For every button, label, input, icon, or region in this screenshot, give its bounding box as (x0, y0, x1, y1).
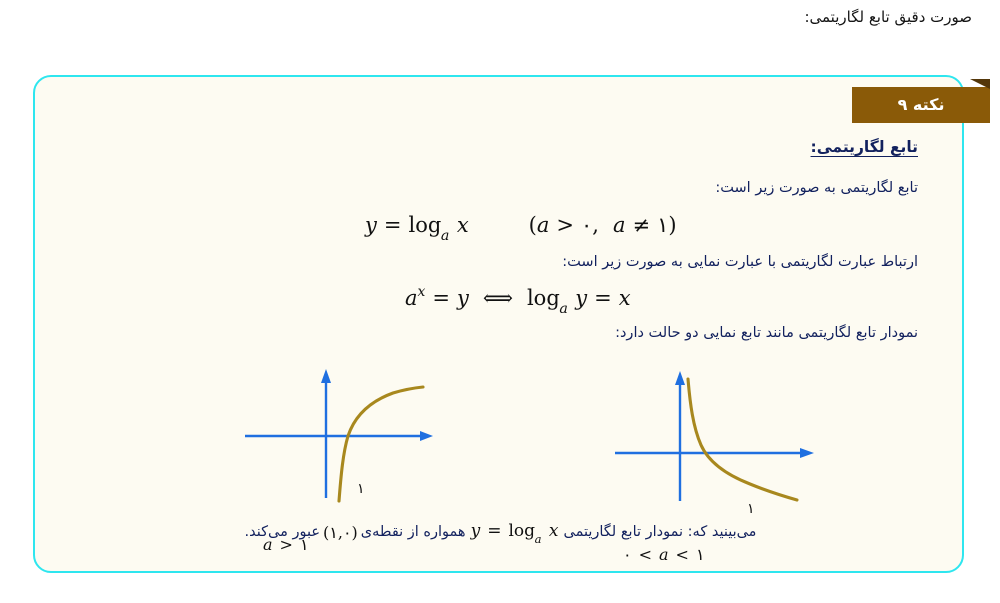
condition-a-second: a (613, 213, 626, 237)
note-ribbon-label: نکته ۹ (898, 95, 945, 114)
case-right-zero: ۰ (623, 545, 632, 564)
condition-open-paren: ( (529, 213, 537, 237)
equiv-exp-equals: = (432, 286, 450, 310)
body-line-2: ارتباط عبارت لگاریتمی با عبارت نمایی به … (562, 254, 918, 270)
body-line-3: نمودار تابع لگاریتمی مانند تابع نمایی دو… (615, 325, 918, 341)
condition-comma: , (592, 213, 599, 237)
condition-close-paren: ) (668, 213, 676, 237)
x-axis-arrow-icon (420, 431, 433, 441)
condition-a-first: a (537, 213, 550, 237)
case-right-one: ۱ (696, 545, 705, 564)
point-zero: ۰ (343, 523, 352, 542)
note-box: تابع لگاریتمی: تابع لگاریتمی به صورت زیر… (33, 75, 964, 573)
x-axis-arrow-icon (800, 448, 814, 458)
formula-definition: y=logax(a>۰,a≠۱) (365, 213, 677, 241)
case-label-zero-less-a-less-one: ۰<a<۱ (623, 545, 705, 564)
equiv-log-arg: y (575, 286, 587, 310)
caption-math-arg: x (549, 521, 559, 541)
equiv-exp-base: a (405, 286, 418, 310)
caption-math-base: a (535, 532, 542, 546)
formula-equivalence: ax=y⟺logay=x (405, 285, 631, 314)
note-ribbon-body: نکته ۹ (852, 87, 990, 123)
body-line-1: تابع لگاریتمی به صورت زیر است: (715, 180, 918, 196)
condition-one: ۱ (657, 213, 668, 237)
formula-y: y (365, 213, 377, 237)
caption-math-equals: = (487, 521, 501, 541)
case-right-a: a (659, 545, 669, 564)
caption-middle: همواره از نقطه‌ی (361, 524, 466, 540)
caption-math-y: y (471, 521, 481, 541)
formula-log: log (408, 213, 441, 237)
case-right-operator-1: < (639, 545, 652, 564)
caption-point: (۱,۰) (323, 523, 358, 542)
intro-text: صورت دقیق تابع لگاریتمی: (32, 8, 972, 26)
equiv-exp-result: y (457, 286, 469, 310)
condition-zero: ۰ (581, 213, 592, 237)
point-close-paren: ) (352, 523, 358, 542)
caption-prefix: می‌بینید که: نمودار تابع لگاریتمی (564, 524, 757, 540)
y-axis-arrow-icon (675, 371, 685, 385)
log-curve-decreasing (688, 379, 797, 500)
y-axis-arrow-icon (321, 369, 331, 383)
tick-label-one-right: ۱ (747, 501, 755, 517)
equiv-log-equals: = (594, 286, 612, 310)
note-content: تابع لگاریتمی: تابع لگاریتمی به صورت زیر… (35, 77, 966, 575)
log-curve-increasing (339, 387, 423, 501)
condition-not-equal: ≠ (633, 213, 651, 237)
caption-inline-formula: y=logax (471, 521, 559, 543)
caption-suffix: عبور می‌کند. (245, 524, 320, 540)
condition-greater-than: > (556, 213, 574, 237)
formula-log-base: a (441, 228, 450, 244)
tick-label-one-left: ۱ (357, 481, 365, 497)
equiv-exp-power: x (418, 284, 426, 300)
ribbon-fold-icon (970, 79, 990, 89)
graph-increasing-log (235, 365, 445, 509)
note-ribbon: نکته ۹ (845, 79, 990, 123)
case-right-operator-2: < (676, 545, 689, 564)
equiv-log-result: x (619, 286, 631, 310)
section-heading: تابع لگاریتمی: (811, 138, 918, 156)
formula-equals: = (384, 213, 402, 237)
equiv-log: log (527, 286, 560, 310)
graph-decreasing-log (605, 365, 835, 509)
formula-log-arg: x (457, 213, 469, 237)
equiv-iff-symbol: ⟺ (483, 286, 513, 310)
caption-math-log: log (508, 521, 535, 541)
equiv-log-base: a (559, 301, 568, 317)
caption-text: می‌بینید که: نمودار تابع لگاریتمیy=logax… (83, 521, 918, 543)
point-one: ۱ (329, 523, 338, 542)
